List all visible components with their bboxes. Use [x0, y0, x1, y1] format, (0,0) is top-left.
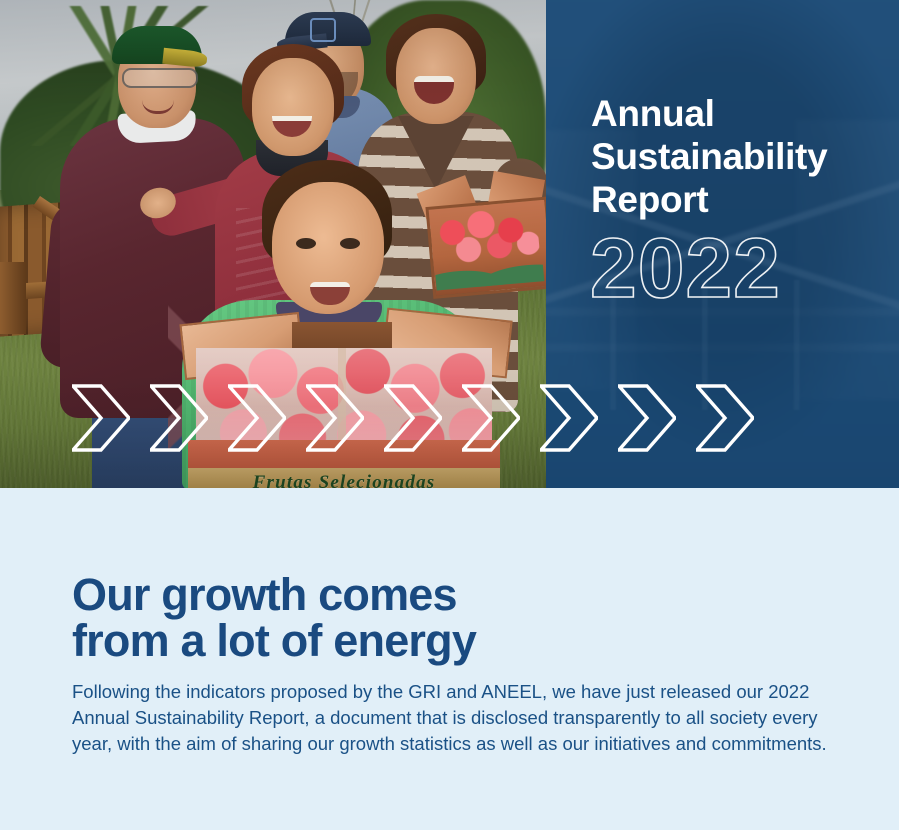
hero-photo: Frutas Selecionadas [0, 0, 546, 488]
report-title: AnnualSustainabilityReport [591, 92, 891, 221]
section-body-text: Following the indicators proposed by the… [72, 679, 844, 757]
photo-vignette [0, 0, 546, 488]
intro-section: Our growth comesfrom a lot of energy Fol… [0, 488, 899, 830]
hero-section: Frutas Selecionadas AnnualSustainability… [0, 0, 899, 488]
section-headline: Our growth comesfrom a lot of energy [72, 572, 712, 664]
sustainability-report-banner: Frutas Selecionadas AnnualSustainability… [0, 0, 899, 830]
report-title-panel: AnnualSustainabilityReport 2022 [546, 0, 899, 488]
report-year: 2022 [590, 226, 781, 310]
